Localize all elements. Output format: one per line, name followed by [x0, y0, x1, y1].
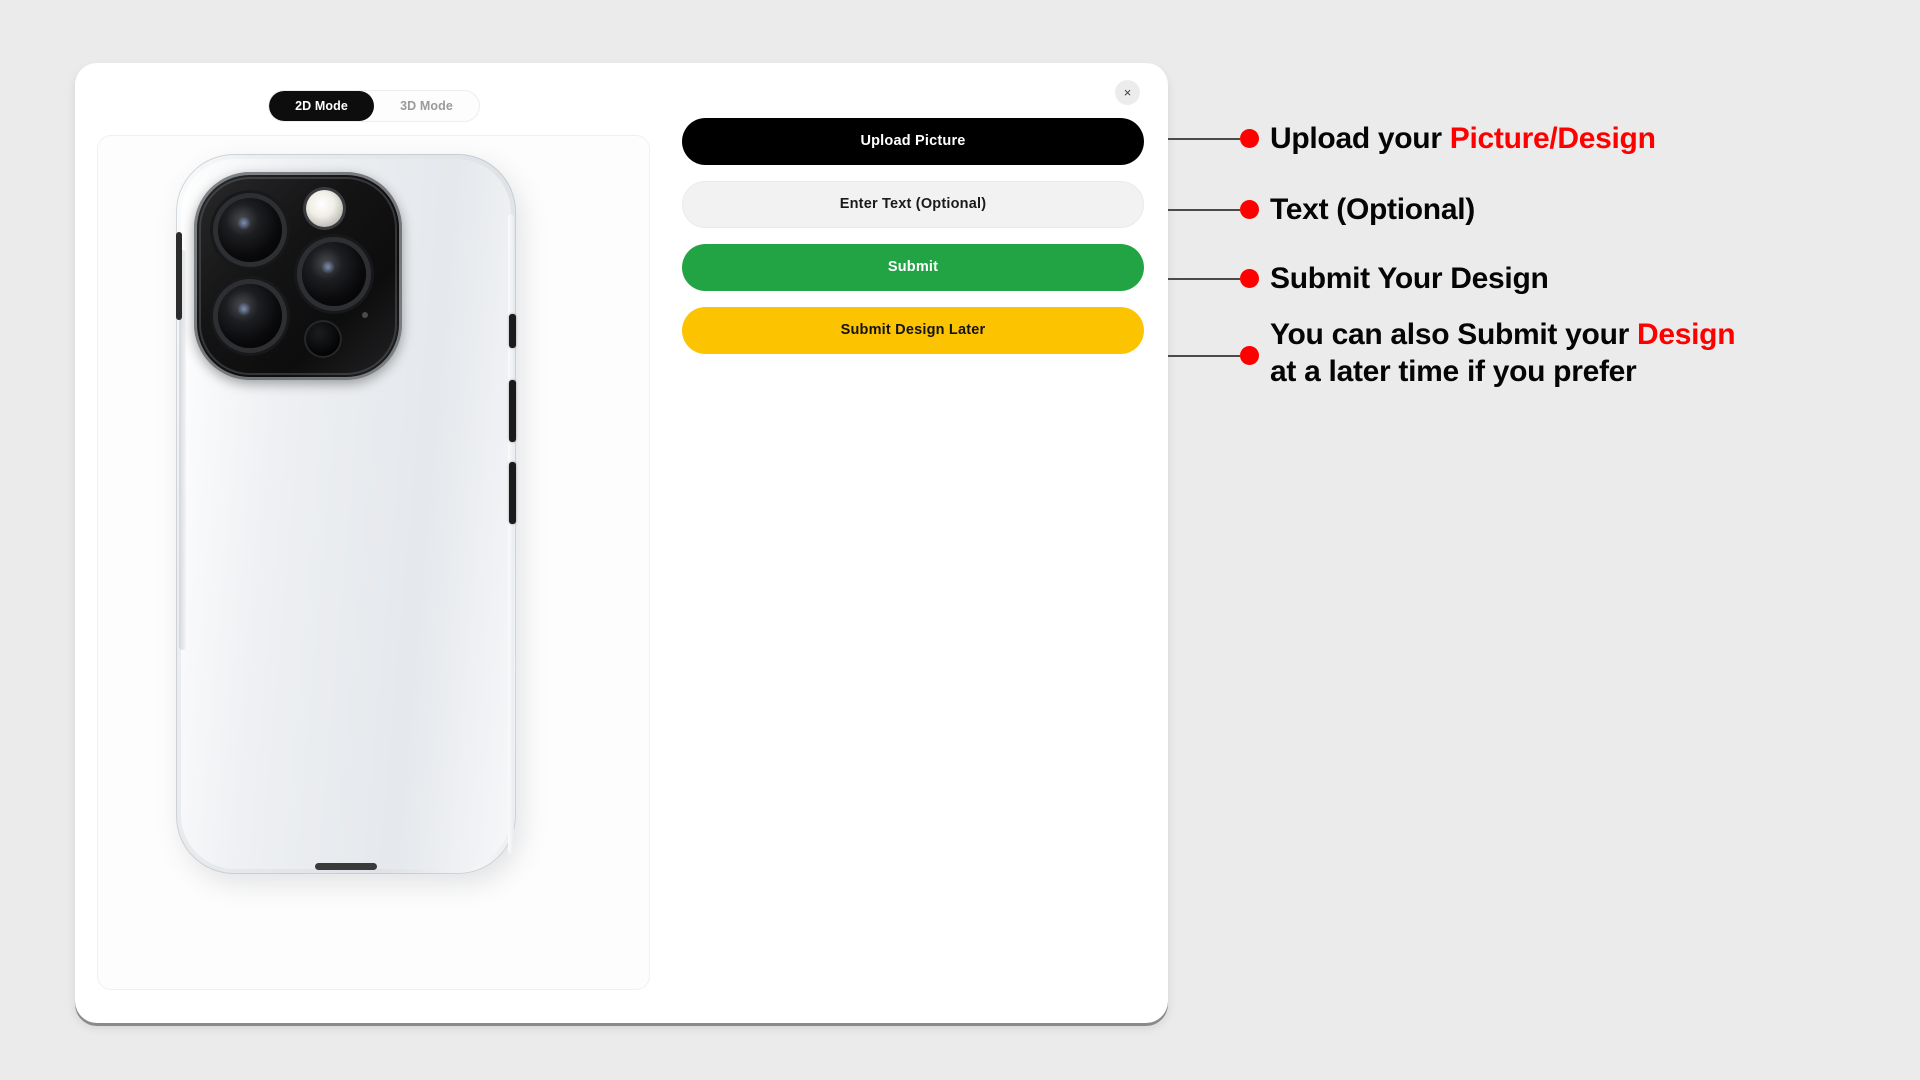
- screen-root: 2D Mode 3D Mode ×: [0, 0, 1920, 1080]
- phone-edge-right: [508, 214, 514, 854]
- submit-button[interactable]: Submit: [682, 244, 1144, 291]
- annotation-label-upload: Upload your Picture/Design: [1270, 121, 1656, 158]
- camera-lens-telephoto: [302, 242, 366, 306]
- charging-port-cutout: [315, 863, 377, 870]
- annotation-callouts: Upload your Picture/Design Text (Optiona…: [1168, 0, 1920, 1080]
- volume-down-cutout: [509, 462, 516, 524]
- camera-module: [194, 172, 402, 380]
- upload-picture-button[interactable]: Upload Picture: [682, 118, 1144, 165]
- power-button-cutout: [176, 232, 182, 320]
- action-button-group: Upload Picture Enter Text (Optional) Sub…: [682, 118, 1144, 370]
- mode-option-3d[interactable]: 3D Mode: [374, 91, 479, 121]
- leader-dot-text: [1240, 200, 1259, 219]
- camera-lens-wide: [218, 198, 282, 262]
- leader-dot-upload: [1240, 129, 1259, 148]
- leader-line-text: [1168, 209, 1240, 211]
- flash-icon: [306, 190, 343, 227]
- mode-option-2d[interactable]: 2D Mode: [269, 91, 374, 121]
- phone-case-body: [176, 154, 516, 874]
- volume-up-cutout: [509, 380, 516, 442]
- leader-dot-later: [1240, 346, 1259, 365]
- annotation-text-lead: Text (Optional): [1270, 193, 1475, 226]
- phone-case-image: [176, 154, 516, 874]
- design-modal: 2D Mode 3D Mode ×: [75, 63, 1168, 1023]
- leader-line-submit: [1168, 278, 1240, 280]
- mode-toggle[interactable]: 2D Mode 3D Mode: [268, 90, 480, 122]
- enter-text-input[interactable]: Enter Text (Optional): [682, 181, 1144, 228]
- annotation-later-highlight: Design: [1637, 318, 1735, 351]
- close-icon[interactable]: ×: [1115, 80, 1140, 105]
- leader-line-later: [1168, 355, 1240, 357]
- camera-lens-ultrawide: [218, 284, 282, 348]
- annotation-later-lead: You can also Submit your: [1270, 318, 1637, 351]
- annotation-upload-lead: Upload your: [1270, 122, 1450, 155]
- annotation-label-later: You can also Submit your Design at a lat…: [1270, 317, 1890, 390]
- product-preview-panel[interactable]: [97, 135, 650, 990]
- submit-design-later-button[interactable]: Submit Design Later: [682, 307, 1144, 354]
- annotation-label-submit: Submit Your Design: [1270, 261, 1549, 298]
- annotation-later-line2: at a later time if you prefer: [1270, 355, 1636, 388]
- leader-dot-submit: [1240, 269, 1259, 288]
- annotation-upload-highlight: Picture/Design: [1450, 122, 1656, 155]
- leader-line-upload: [1168, 138, 1240, 140]
- microphone-icon: [362, 312, 368, 318]
- annotation-submit-lead: Submit Your Design: [1270, 262, 1549, 295]
- annotation-label-text: Text (Optional): [1270, 192, 1475, 229]
- action-button-cutout: [509, 314, 516, 348]
- lidar-sensor-icon: [304, 320, 342, 358]
